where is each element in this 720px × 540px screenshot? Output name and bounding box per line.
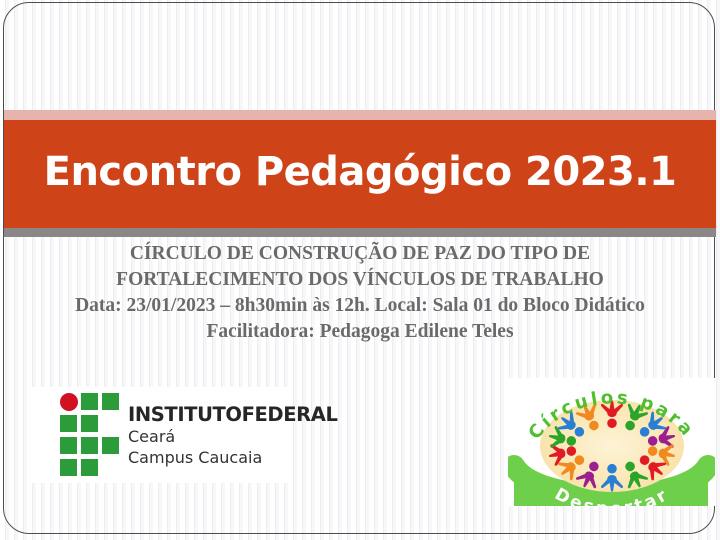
ifce-square-icon [81,415,98,432]
body-line-subject: CÍRCULO DE CONSTRUÇÃO DE PAZ DO TIPO DE … [56,241,664,293]
body-line-datetime-location: Data: 23/01/2023 – 8h30min às 12h. Local… [56,293,664,319]
ifce-title: INSTITUTOFEDERAL [128,404,337,426]
ifce-square-icon [60,415,77,432]
ifce-state: Ceará [128,426,337,447]
circulos-para-despertar-logo: Círculos para Despertar [508,378,715,506]
ifce-square-icon [60,459,77,476]
presentation-slide: Encontro Pedagógico 2023.1 CÍRCULO DE CO… [0,0,720,540]
title-banner-gray-strip [4,228,716,237]
body-line-facilitator: Facilitadora: Pedagoga Edilene Teles [56,319,664,345]
ifce-square-icon [60,437,77,454]
ifce-logo: INSTITUTOFEDERAL Ceará Campus Caucaia [29,387,289,483]
title-banner-pink-strip [4,110,716,120]
ifce-square-icon [102,393,119,410]
slide-title: Encontro Pedagógico 2023.1 [0,148,720,196]
ifce-square-icon [81,459,98,476]
ifce-red-dot-icon [60,393,78,411]
cpd-logo-graphic: Círculos para Despertar [508,378,715,506]
ifce-square-icon [81,437,98,454]
ifce-square-icon [81,393,98,410]
ifce-logo-wordmark: INSTITUTOFEDERAL Ceará Campus Caucaia [128,404,337,468]
ifce-logo-mark [60,393,120,477]
slide-body-text: CÍRCULO DE CONSTRUÇÃO DE PAZ DO TIPO DE … [56,241,664,345]
ifce-campus: Campus Caucaia [128,447,337,468]
ifce-square-icon [102,437,119,454]
